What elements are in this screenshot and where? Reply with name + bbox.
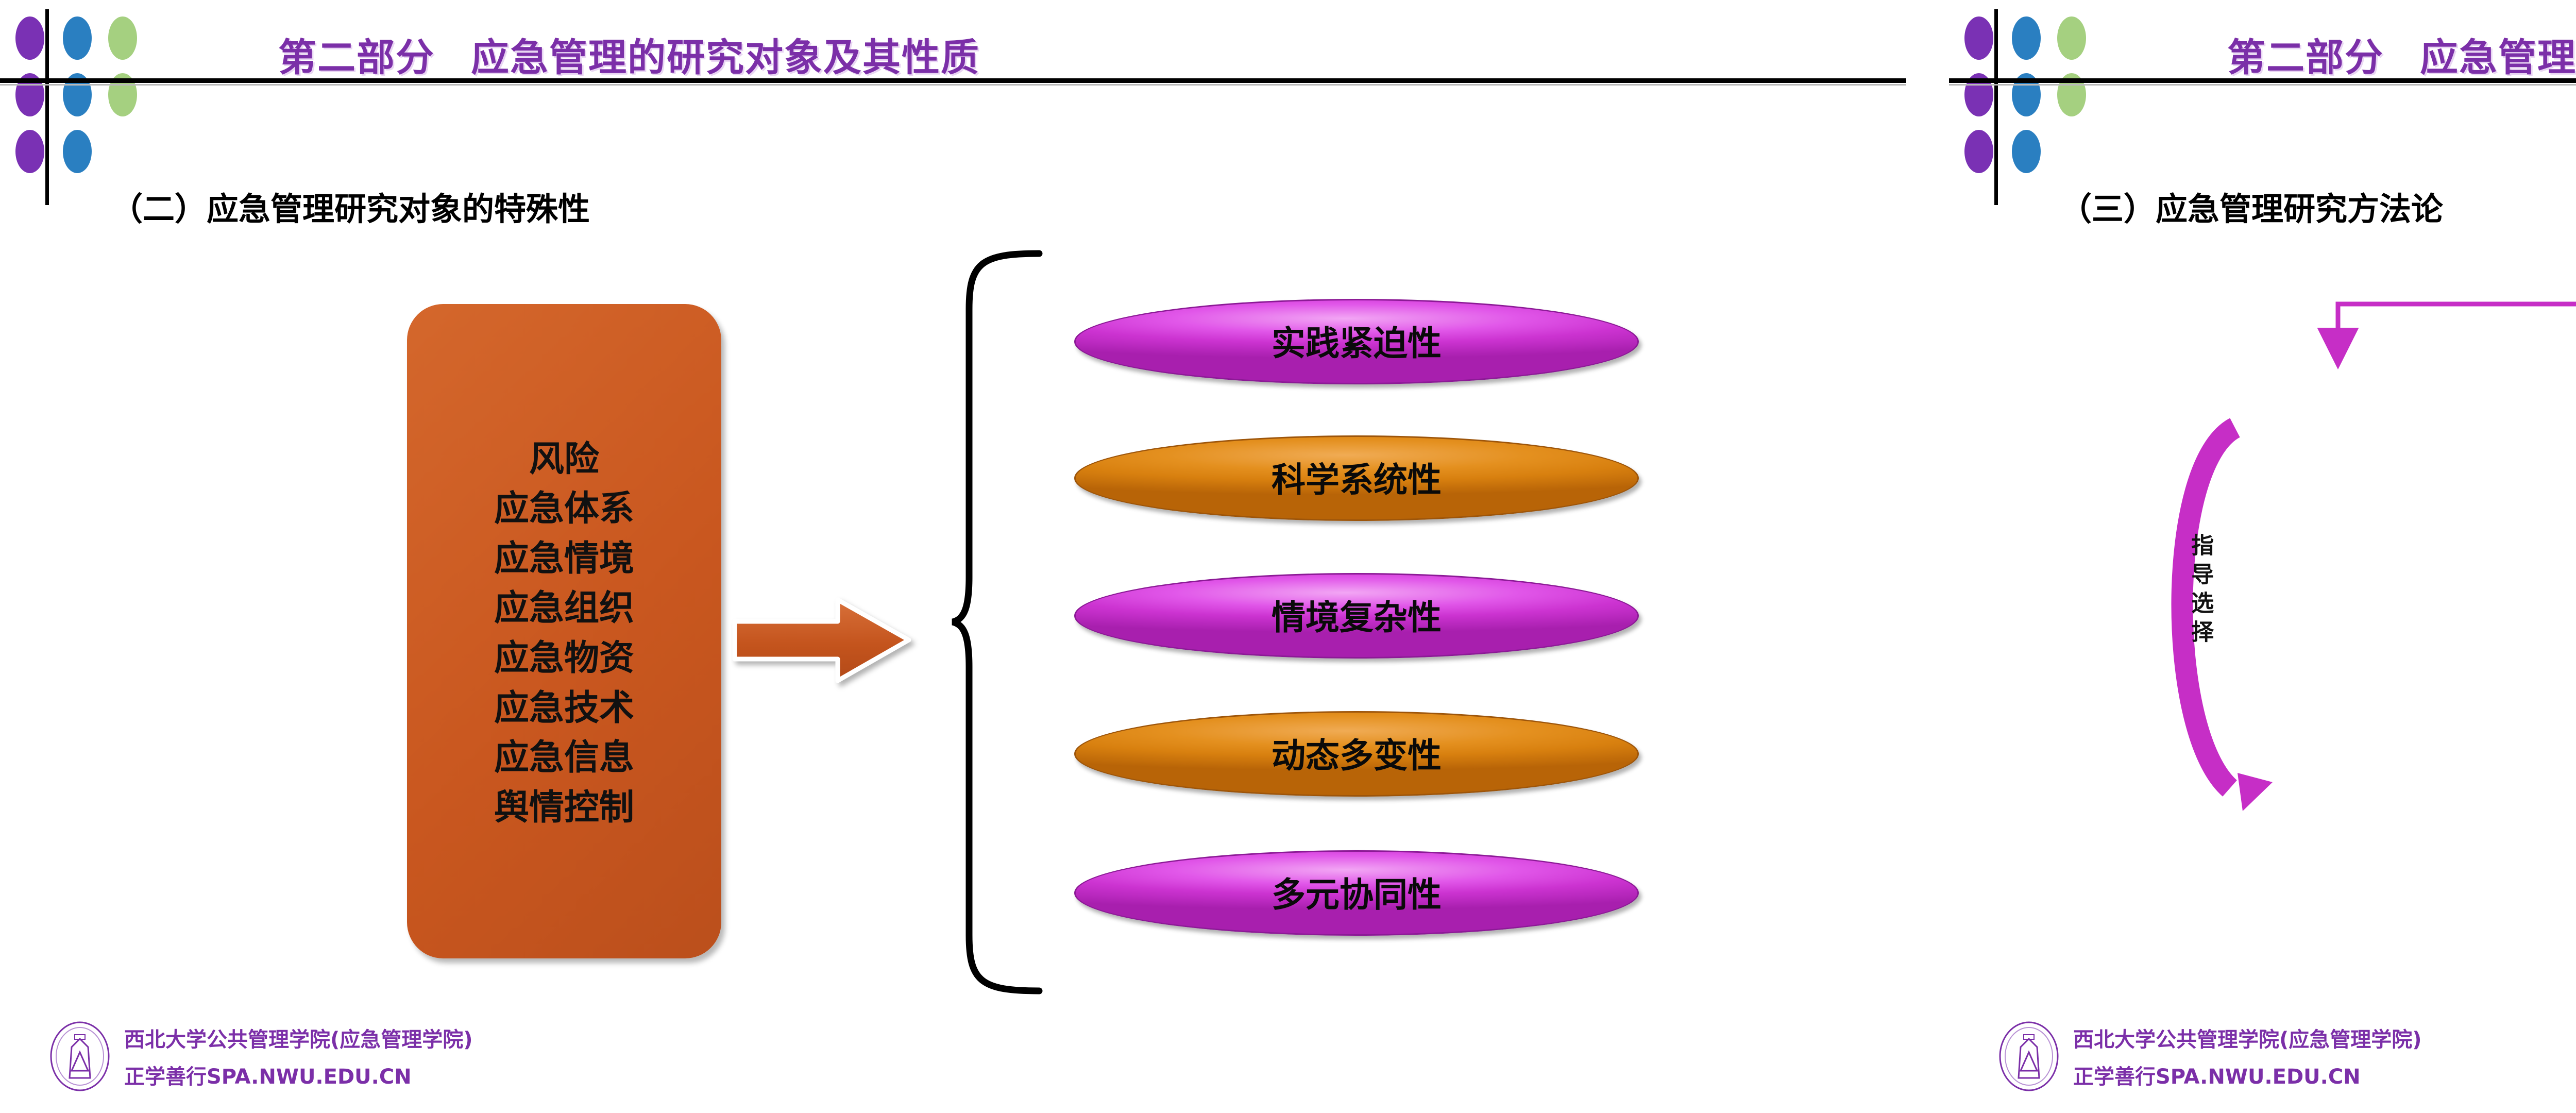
- footer: 西北大学公共管理学院(应急管理学院) 正学善行SPA.NWU.EDU.CN: [1998, 1020, 2422, 1092]
- footer-institution: 西北大学公共管理学院(应急管理学院): [124, 1023, 473, 1053]
- footer-institution: 西北大学公共管理学院(应急管理学院): [2073, 1023, 2422, 1053]
- slide-research-object: 第二部分应急管理的研究对象及其性质 （二）应急管理研究对象的特殊性 风险 应急体…: [0, 0, 1948, 1113]
- title-main-label: 应急管理的研究对象及其性质: [471, 36, 980, 80]
- diagram-connectors: [1949, 0, 2576, 1113]
- list-item: 风险: [529, 434, 599, 484]
- attribute-ellipse: 实践紧迫性: [1074, 299, 1639, 384]
- header-vertical-rule: [45, 9, 49, 205]
- attribute-label: 多元协同性: [1272, 867, 1442, 917]
- left-cycle-label-text: 指导选择: [2187, 533, 2213, 649]
- feedback-line: [2338, 304, 2576, 356]
- section-subtitle: （二）应急管理研究对象的特殊性: [111, 183, 590, 229]
- research-object-list-box: 风险 应急体系 应急情境 应急组织 应急物资 应急技术 应急信息 舆情控制: [407, 304, 721, 958]
- left-cycle-label: 指导选择: [2185, 533, 2215, 655]
- attribute-label: 动态多变性: [1272, 728, 1442, 778]
- attribute-label: 科学系统性: [1272, 452, 1442, 502]
- decorative-dot-purple: [15, 16, 44, 60]
- slide-research-methodology: 第二部分应急管理研究方法论 （三）应急管理研究方法论 事实 从实践中获得: [1949, 0, 2576, 1113]
- title-part-label: 第二部分: [278, 36, 435, 80]
- attribute-ellipse: 情境复杂性: [1074, 573, 1639, 659]
- attribute-label: 实践紧迫性: [1272, 316, 1442, 365]
- decorative-dot-blue: [63, 130, 92, 173]
- decorative-dot-green: [108, 16, 137, 60]
- list-item: 应急情境: [494, 534, 634, 584]
- list-item: 舆情控制: [494, 783, 634, 833]
- attribute-ellipse: 动态多变性: [1074, 711, 1639, 797]
- list-item: 应急物资: [494, 633, 634, 683]
- footer-motto-url: 正学善行SPA.NWU.EDU.CN: [124, 1060, 473, 1090]
- university-seal-icon: [1998, 1020, 2060, 1092]
- footer-motto-url: 正学善行SPA.NWU.EDU.CN: [2073, 1060, 2422, 1090]
- decorative-dot-blue: [63, 16, 92, 60]
- list-item: 应急组织: [494, 583, 634, 633]
- page-title: 第二部分应急管理的研究对象及其性质: [278, 27, 980, 82]
- attribute-ellipse: 多元协同性: [1074, 850, 1639, 936]
- university-seal-icon: [49, 1020, 111, 1092]
- attribute-ellipse: 科学系统性: [1074, 435, 1639, 521]
- list-item: 应急体系: [494, 484, 634, 534]
- left-cycle-arrowhead: [2238, 773, 2273, 811]
- footer: 西北大学公共管理学院(应急管理学院) 正学善行SPA.NWU.EDU.CN: [49, 1020, 473, 1092]
- list-item: 应急信息: [494, 733, 634, 783]
- header-horizontal-rule-shadow: [0, 84, 1906, 86]
- list-item: 应急技术: [494, 683, 634, 733]
- attribute-label: 情境复杂性: [1272, 590, 1442, 639]
- curly-brace-icon: [951, 247, 1043, 997]
- right-block-arrow-icon: [732, 593, 912, 688]
- header-dot-grid: [15, 11, 144, 187]
- decorative-dot-purple: [15, 130, 44, 173]
